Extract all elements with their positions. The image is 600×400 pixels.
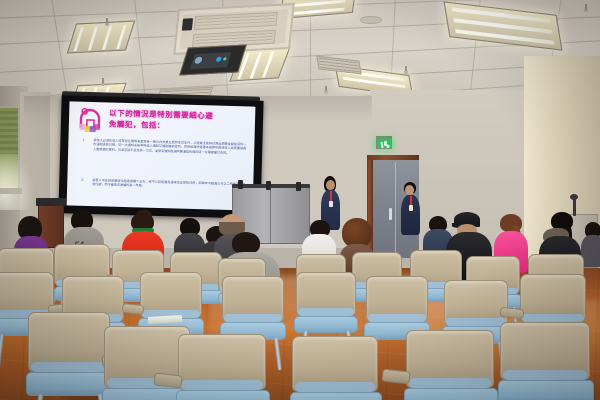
ceiling-speaker xyxy=(360,16,382,24)
slide-paragraph-2: 2. 承租人不在該居屋居住超過連續十五天，或不以該居屋為通常及正常的住所，即每年… xyxy=(81,178,246,205)
pink-arch-logo xyxy=(77,107,104,134)
sprinkler-head-1 xyxy=(105,18,109,26)
presenter-right-head xyxy=(405,185,414,195)
slide-paragraph-2-number: 2. xyxy=(81,178,84,182)
presentation-slide: 以下的情況是特別需要細心避 免觸犯，包括： 1. 承租人必須在收入或是居住聲明表… xyxy=(67,101,256,210)
sprinkler-head-4 xyxy=(324,86,328,94)
emergency-exit-sign xyxy=(376,139,392,149)
attendee-grey-coat-hair xyxy=(232,232,260,254)
door-glass-seam xyxy=(395,162,396,256)
slide-paragraph-2-text: 承租人不在該居屋居住超過連續十五天，或不以該居屋為通常及正常的住所，即每年不超過… xyxy=(92,178,245,191)
presenter-left-badge xyxy=(329,201,333,207)
whiteboard-seam xyxy=(270,187,271,243)
slide-paragraph-1: 1. 承租人必須在收入或是居住聲明表更變後一個月內向業主更新本宣言件，以使業主能… xyxy=(82,138,247,179)
presenter-right-badge xyxy=(409,205,413,211)
sprinkler-head-5 xyxy=(584,4,588,12)
window-sill xyxy=(0,188,22,194)
seminar-room-photo: 以下的情況是特別需要細心避 免觸犯，包括： 1. 承租人必須在收入或是居住聲明表… xyxy=(0,0,600,400)
sprinkler-head-2 xyxy=(101,78,105,86)
whiteboard-clip-3 xyxy=(296,182,301,191)
whiteboard-clip-1 xyxy=(238,180,243,189)
ceiling-light-1 xyxy=(67,21,135,54)
ceiling-light-5 xyxy=(444,1,563,50)
door-handle[interactable] xyxy=(389,208,392,220)
slide-paragraph-1-text: 承租人必須在收入或是居住聲明表更變後一個月內向業主更新本宣言件，以使業主能夠計算… xyxy=(93,138,246,156)
ceiling-projector xyxy=(179,45,247,76)
window-blind xyxy=(0,108,18,154)
microphone-head xyxy=(570,194,578,200)
slide-paragraph-1-number: 1. xyxy=(82,138,85,142)
sprinkler-head-3 xyxy=(404,66,408,74)
av-equipment xyxy=(36,198,66,206)
presenter-left-head xyxy=(326,180,335,190)
microphone-stand xyxy=(573,198,576,216)
ceiling-vent-right xyxy=(316,55,361,74)
